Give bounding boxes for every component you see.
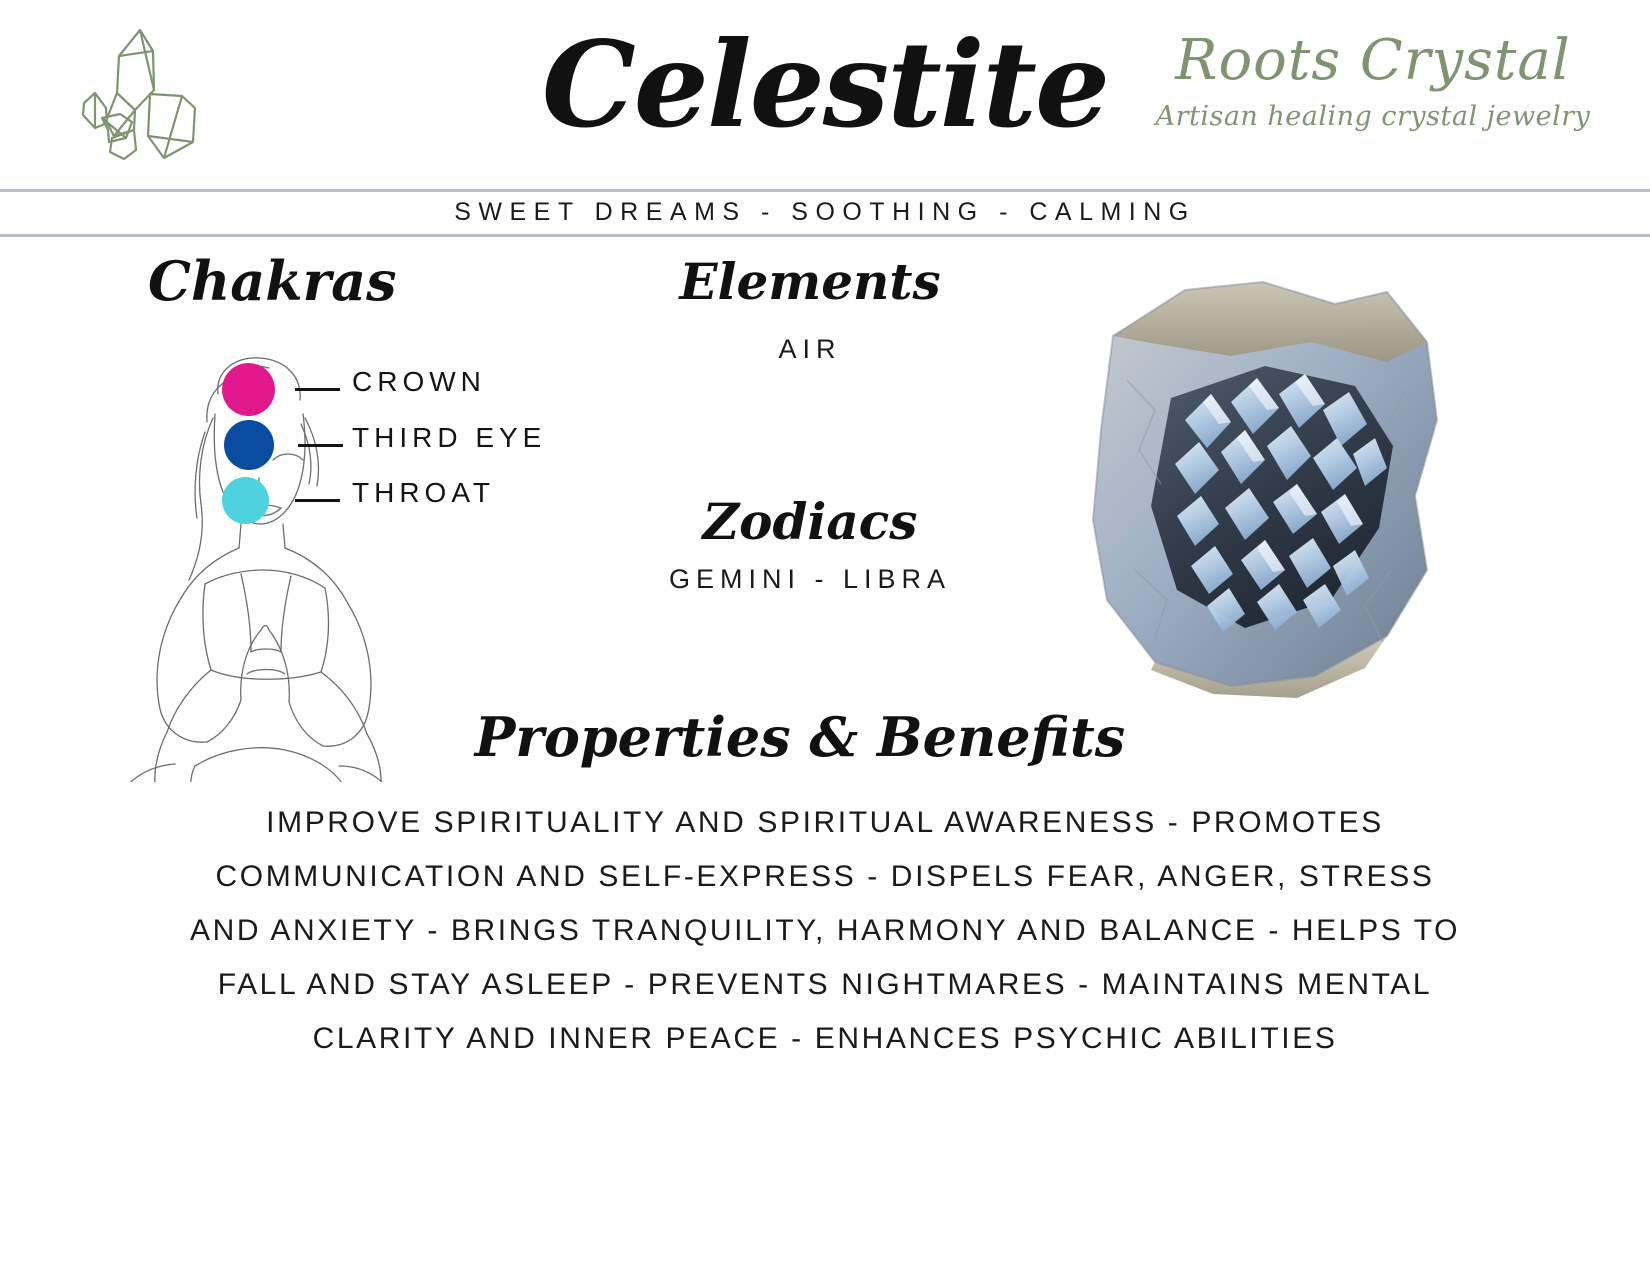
brand-block: Roots Crystal Artisan healing crystal je… xyxy=(1138,28,1608,140)
zodiacs-heading: Zodiacs xyxy=(560,492,1060,552)
properties-body: IMPROVE SPIRITUALITY AND SPIRITUAL AWARE… xyxy=(40,796,1610,1066)
meditating-woman-line-art-icon xyxy=(55,352,455,782)
chakra-label-third-eye: THIRD EYE xyxy=(352,422,546,454)
chakra-dot-crown xyxy=(222,363,275,416)
elements-heading: Elements xyxy=(560,252,1060,312)
brand-tagline: Artisan healing crystal jewelry xyxy=(1138,94,1608,140)
tagline: SWEET DREAMS - SOOTHING - CALMING xyxy=(0,190,1650,234)
divider-bottom xyxy=(0,234,1650,237)
brand-name: Roots Crystal xyxy=(1138,28,1608,94)
chakra-label-crown: CROWN xyxy=(352,366,486,398)
chakra-dot-throat xyxy=(222,477,269,524)
chakra-leader-crown xyxy=(295,388,340,391)
footer: @ROOTSCRYSTALATL WWW.ROOTSCRYSTAL.COM xyxy=(0,1130,1650,1220)
crystal-info-card: Celestite Roots Crystal Artisan healing … xyxy=(0,0,1650,1275)
zodiacs-value: GEMINI - LIBRA xyxy=(560,564,1060,595)
celestite-geode-photo xyxy=(1035,270,1515,720)
properties-line: IMPROVE SPIRITUALITY AND SPIRITUAL AWARE… xyxy=(40,796,1610,850)
chakra-leader-third-eye xyxy=(298,444,343,447)
properties-heading: Properties & Benefits xyxy=(400,702,1200,772)
properties-line: AND ANXIETY - BRINGS TRANQUILITY, HARMON… xyxy=(40,904,1610,958)
header: Celestite Roots Crystal Artisan healing … xyxy=(0,0,1650,190)
properties-line: FALL AND STAY ASLEEP - PREVENTS NIGHTMAR… xyxy=(40,958,1610,1012)
properties-line: COMMUNICATION AND SELF-EXPRESS - DISPELS… xyxy=(40,850,1610,904)
chakra-label-throat: THROAT xyxy=(352,477,495,509)
chakra-leader-throat xyxy=(295,499,340,502)
chakra-dot-third-eye xyxy=(224,420,274,470)
chakras-heading: Chakras xyxy=(148,248,396,314)
elements-value: AIR xyxy=(560,334,1060,365)
properties-line: CLARITY AND INNER PEACE - ENHANCES PSYCH… xyxy=(40,1012,1610,1066)
